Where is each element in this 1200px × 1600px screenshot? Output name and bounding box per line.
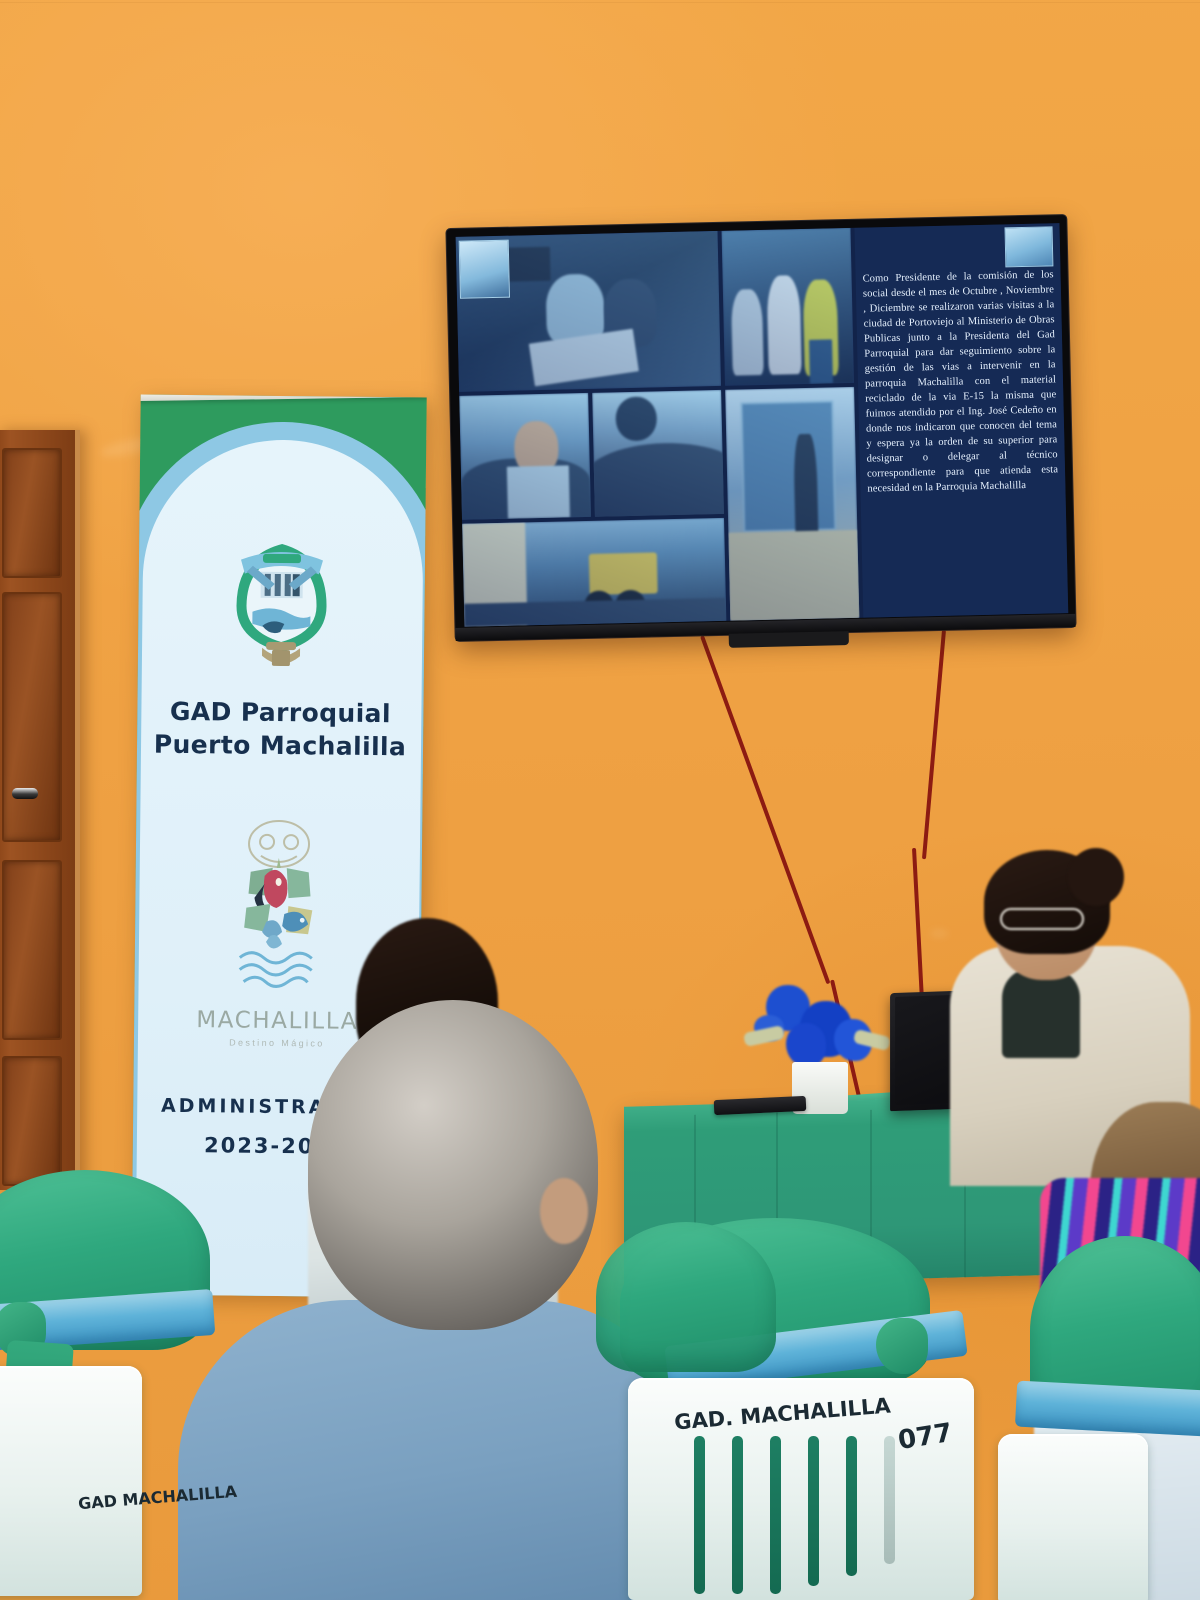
attendee-man-blue: [288, 1000, 608, 1600]
photo-group-standing: [722, 228, 854, 385]
door-panel: [2, 448, 62, 578]
banner-title-line2: Puerto Machalilla: [137, 728, 423, 764]
door-handle[interactable]: [12, 788, 38, 799]
tv-screen: Como Presidente de la comisión de los so…: [456, 223, 1069, 627]
wall-mounted-tv[interactable]: Como Presidente de la comisión de los so…: [446, 215, 1075, 641]
attendee-front-head: [308, 1000, 598, 1330]
chair-behind-left[interactable]: [596, 1222, 776, 1462]
plastic-chair-back: [998, 1434, 1148, 1600]
chair-cover: [596, 1222, 776, 1372]
slide-body-text: Como Presidente de la comisión de los so…: [863, 269, 1059, 494]
machalilla-bird-fish-logo-icon: [229, 809, 327, 996]
banner-title: GAD Parroquial Puerto Machalilla: [137, 695, 424, 764]
shield-coat-of-arms-icon: [222, 515, 342, 666]
wall-seam: [0, 2, 1200, 3]
machalilla-bird-logo-icon: [1005, 226, 1054, 267]
wooden-door[interactable]: [0, 430, 80, 1190]
tv-wall-mount: [728, 631, 848, 648]
banner-title-line1: GAD Parroquial: [137, 695, 423, 731]
chair-sash: [1015, 1381, 1200, 1438]
door-panel: [2, 1056, 62, 1186]
wall-scuff: [930, 930, 948, 937]
chair-sash-knot: [876, 1318, 928, 1374]
chair-left[interactable]: GAD MACHALILLA: [0, 1170, 230, 1600]
slide-text-block: Como Presidente de la comisión de los so…: [854, 223, 1068, 618]
door-panel: [2, 592, 62, 842]
photo-road-man: [459, 393, 591, 520]
photo-road-material: [592, 390, 724, 517]
presenter-hair-bun: [1068, 848, 1124, 906]
presenter-glasses: [1000, 908, 1084, 930]
meeting-room-photograph: Como Presidente de la comisión de los so…: [0, 0, 1200, 1600]
door-panel: [2, 860, 62, 1040]
photo-office-door: [725, 386, 859, 620]
attendee-front-ear: [540, 1178, 588, 1244]
photo-grader-machine: [462, 518, 726, 627]
chair-right[interactable]: [1020, 1236, 1200, 1600]
photo-meeting-desk: [456, 231, 721, 392]
plastic-chair-back: [0, 1366, 142, 1596]
presenter-inner-top: [1002, 968, 1080, 1058]
gad-emblem-icon: [459, 240, 510, 299]
